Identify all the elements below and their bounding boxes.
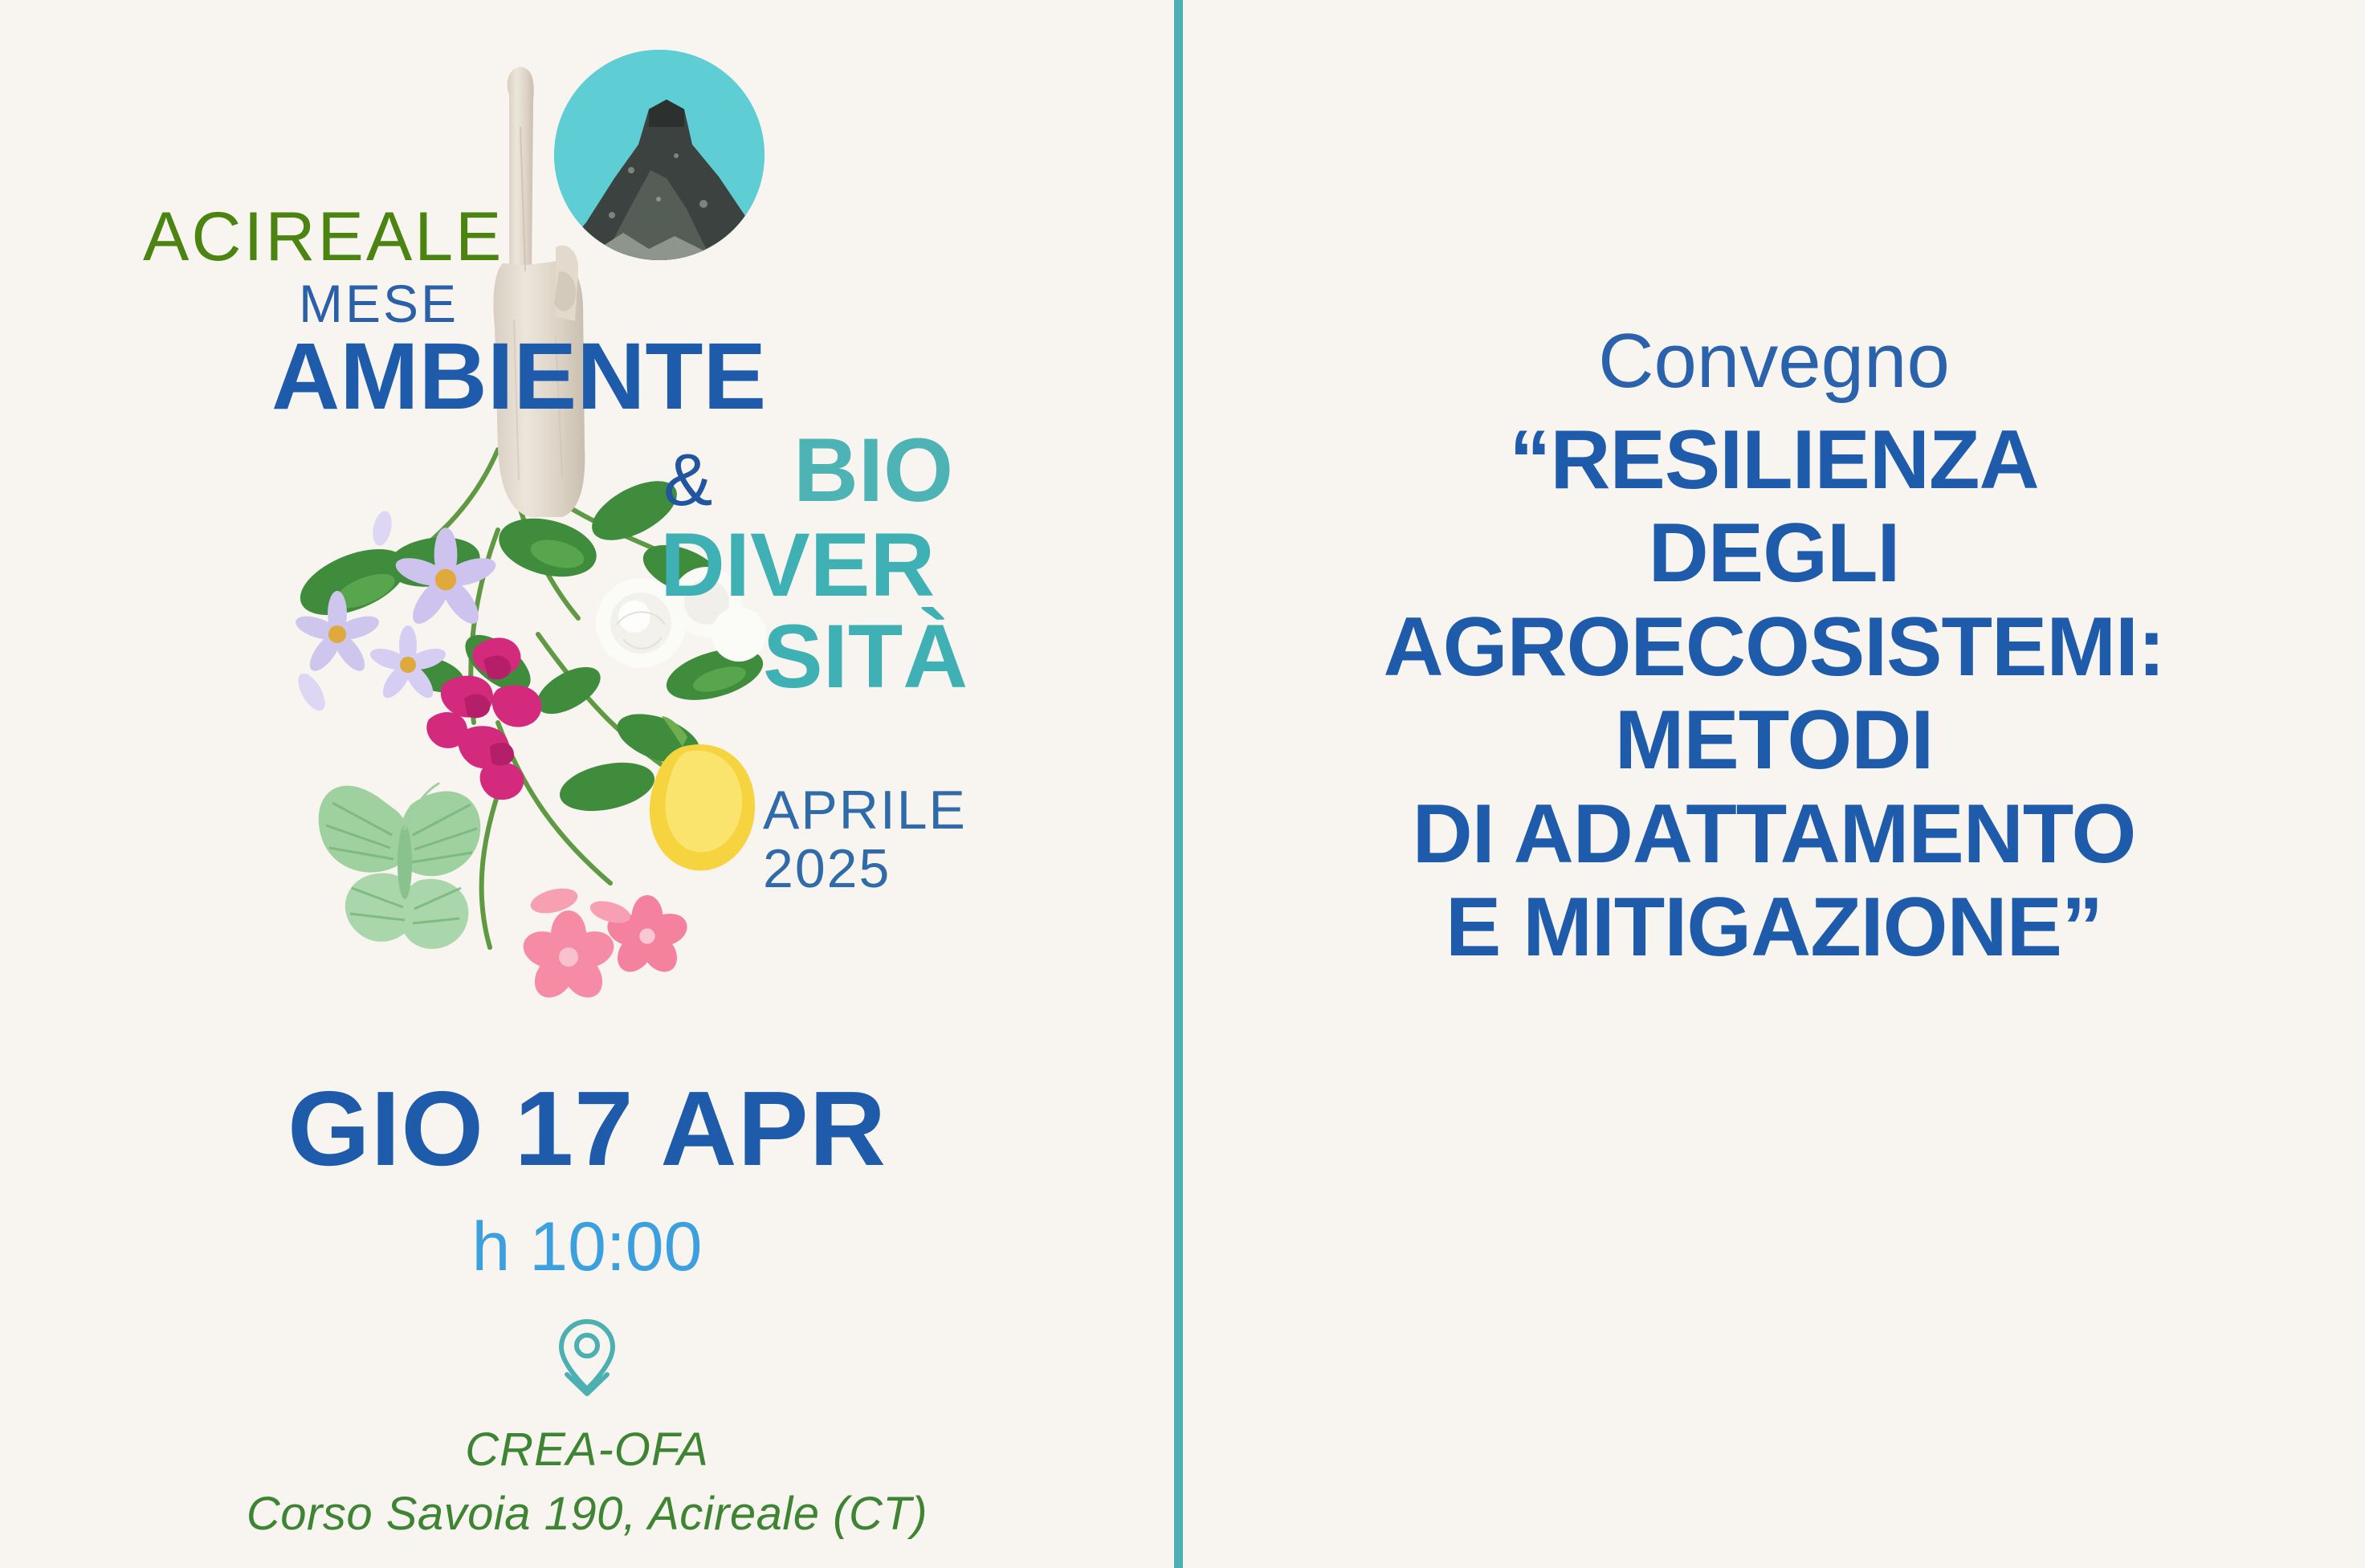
conference-title-line: METODI — [1383, 694, 2164, 787]
conference-title-line: DEGLI — [1383, 507, 2164, 600]
conference-title-line: AGROECOSISTEMI: — [1383, 601, 2164, 694]
brand-city: ACIREALE — [143, 202, 504, 271]
rock-sea-stack-photo — [554, 50, 765, 260]
event-details-block: GIO 17 APR h 10:00 CREA-OFA Corso Savoia… — [0, 1076, 1174, 1537]
brand-year: 2025 — [763, 841, 891, 896]
left-panel: ACIREALE MESE AMBIENTE & BIO DIVER SITÀ … — [0, 0, 1174, 1568]
brand-word-ambiente: AMBIENTE — [271, 329, 766, 424]
brand-word-sita: SITÀ — [763, 612, 968, 702]
conference-title-line: E MITIGAZIONE” — [1383, 881, 2164, 974]
brand-word-diver: DIVER — [660, 520, 935, 610]
event-date: GIO 17 APR — [0, 1076, 1174, 1182]
right-panel: Convegno “RESILIENZA DEGLI AGROECOSISTEM… — [1183, 0, 2365, 1568]
map-pin-wrap — [0, 1315, 1174, 1403]
conference-title-line: “RESILIENZA — [1383, 413, 2164, 507]
brand-kicker: MESE — [299, 277, 459, 330]
event-time: h 10:00 — [0, 1212, 1174, 1281]
brand-month: APRILE — [763, 783, 967, 837]
brand-ampersand: & — [663, 443, 712, 517]
map-pin-icon — [556, 1315, 618, 1403]
conference-title-line: DI ADATTAMENTO — [1383, 788, 2164, 881]
venue-name: CREA-OFA — [0, 1427, 1174, 1473]
event-poster: ACIREALE MESE AMBIENTE & BIO DIVER SITÀ … — [0, 0, 2365, 1568]
brand-word-bio: BIO — [793, 426, 953, 515]
conference-kicker: Convegno — [1598, 321, 1950, 402]
venue-address: Corso Savoia 190, Acireale (CT) — [0, 1491, 1174, 1537]
conference-title: “RESILIENZA DEGLI AGROECOSISTEMI: METODI… — [1383, 413, 2164, 975]
vertical-divider — [1174, 0, 1183, 1568]
